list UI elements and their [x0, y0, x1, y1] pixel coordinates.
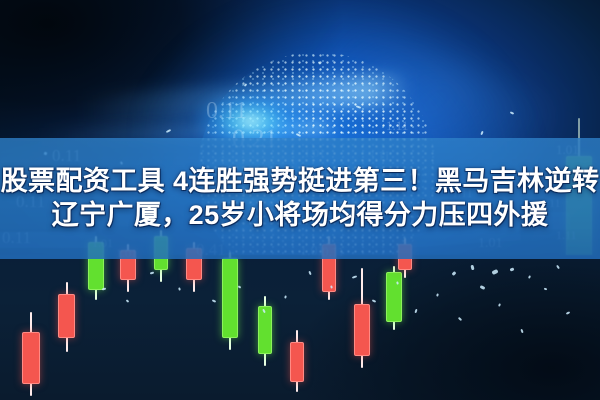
candlestick-bearish	[58, 282, 75, 352]
candlestick-body	[290, 342, 304, 382]
candlestick-body	[58, 294, 75, 338]
candlestick-bullish	[222, 252, 238, 350]
candlestick-body	[258, 306, 272, 354]
headline-line-2: 辽宁广厦，25岁小将场均得分力压四外援	[52, 200, 549, 232]
news-banner-image: 0.110.211.113.110.111.010.110.111.010.41…	[0, 0, 600, 400]
candlestick-body	[22, 332, 40, 384]
candlestick-body	[386, 272, 402, 322]
headline-line-1: 股票配资工具 4连胜强势挺进第三！黑马吉林逆转	[1, 166, 600, 198]
candlestick-bearish	[22, 312, 40, 396]
candlestick-bearish	[290, 330, 304, 392]
candlestick-bullish	[258, 296, 272, 366]
candlestick-body	[222, 258, 238, 338]
candlestick-body	[354, 304, 370, 356]
candlestick-bearish	[354, 268, 370, 368]
headline-block: 股票配资工具 4连胜强势挺进第三！黑马吉林逆转 辽宁广厦，25岁小将场均得分力压…	[0, 138, 600, 259]
